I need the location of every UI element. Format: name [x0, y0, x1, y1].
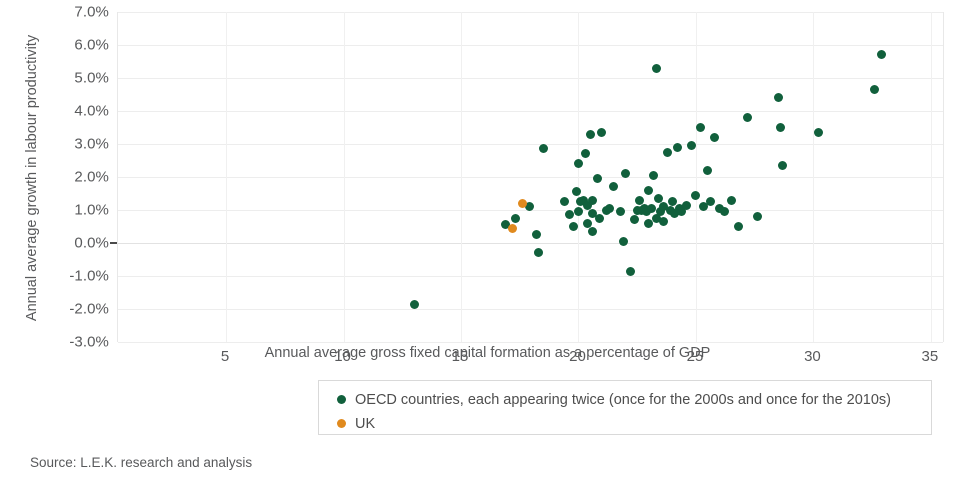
gridline-horizontal — [118, 276, 943, 277]
data-point-oecd — [574, 207, 583, 216]
gridline-horizontal — [118, 243, 943, 244]
data-point-oecd — [877, 50, 886, 59]
data-point-oecd — [753, 212, 762, 221]
data-point-oecd — [565, 210, 574, 219]
data-point-oecd — [776, 123, 785, 132]
scatter-chart: Annual average growth in labour producti… — [0, 0, 975, 485]
y-axis-tick-label: 4.0% — [53, 103, 109, 120]
data-point-oecd — [588, 196, 597, 205]
data-point-oecd — [743, 113, 752, 122]
gridline-horizontal — [118, 111, 943, 112]
data-point-oecd — [644, 186, 653, 195]
data-point-oecd — [581, 149, 590, 158]
data-point-oecd — [720, 207, 729, 216]
y-axis-tick-label: -1.0% — [53, 268, 109, 285]
legend-item-uk[interactable]: UK — [337, 413, 931, 434]
gridline-horizontal — [118, 177, 943, 178]
y-axis-tick-label: 7.0% — [53, 4, 109, 21]
chart-legend: OECD countries, each appearing twice (on… — [318, 380, 932, 435]
y-axis-tick-label: -2.0% — [53, 301, 109, 318]
data-point-oecd — [616, 207, 625, 216]
y-axis-title: Annual average growth in labour producti… — [24, 18, 40, 338]
data-point-oecd — [647, 204, 656, 213]
data-point-oecd — [774, 93, 783, 102]
data-point-oecd — [595, 214, 604, 223]
y-axis-tick-label: 6.0% — [53, 37, 109, 54]
y-axis-tick-label: 3.0% — [53, 136, 109, 153]
zero-axis-tick-mark — [110, 242, 117, 244]
data-point-oecd — [814, 128, 823, 137]
data-point-oecd — [619, 237, 628, 246]
data-point-oecd — [691, 191, 700, 200]
data-point-oecd — [560, 197, 569, 206]
gridline-horizontal — [118, 309, 943, 310]
y-axis-ticks: 7.0%6.0%5.0%4.0%3.0%2.0%1.0%0.0%-1.0%-2.… — [47, 12, 109, 342]
data-point-oecd — [626, 267, 635, 276]
data-point-oecd — [687, 141, 696, 150]
data-point-oecd — [706, 197, 715, 206]
x-axis-title: Annual average gross fixed capital forma… — [0, 345, 975, 361]
gridline-horizontal — [118, 45, 943, 46]
gridline-vertical — [344, 12, 345, 342]
data-point-oecd — [870, 85, 879, 94]
data-point-uk — [518, 199, 527, 208]
data-point-oecd — [663, 148, 672, 157]
data-point-oecd — [586, 130, 595, 139]
y-axis-tick-label: 1.0% — [53, 202, 109, 219]
data-point-oecd — [696, 123, 705, 132]
data-point-oecd — [659, 217, 668, 226]
data-point-oecd — [539, 144, 548, 153]
y-axis-tick-label: 5.0% — [53, 70, 109, 87]
gridline-horizontal — [118, 12, 943, 13]
y-axis-tick-label: 0.0% — [53, 235, 109, 252]
data-point-oecd — [593, 174, 602, 183]
data-point-uk — [508, 224, 517, 233]
gridline-vertical — [461, 12, 462, 342]
gridline-vertical — [931, 12, 932, 342]
data-point-oecd — [673, 143, 682, 152]
gridline-vertical — [813, 12, 814, 342]
data-point-oecd — [652, 64, 661, 73]
legend-label: OECD countries, each appearing twice (on… — [355, 392, 891, 408]
data-point-oecd — [532, 230, 541, 239]
data-point-oecd — [569, 222, 578, 231]
data-point-oecd — [410, 300, 419, 309]
gridline-vertical — [578, 12, 579, 342]
plot-area — [117, 12, 944, 342]
data-point-oecd — [703, 166, 712, 175]
data-point-oecd — [734, 222, 743, 231]
legend-swatch-oecd-icon — [337, 395, 346, 404]
data-point-oecd — [649, 171, 658, 180]
data-point-oecd — [605, 204, 614, 213]
legend-item-oecd[interactable]: OECD countries, each appearing twice (on… — [337, 389, 931, 410]
legend-swatch-uk-icon — [337, 419, 346, 428]
data-point-oecd — [572, 187, 581, 196]
y-axis-tick-label: 2.0% — [53, 169, 109, 186]
gridline-vertical — [226, 12, 227, 342]
gridline-horizontal — [118, 144, 943, 145]
gridline-vertical — [696, 12, 697, 342]
data-point-oecd — [574, 159, 583, 168]
legend-label: UK — [355, 416, 375, 432]
data-point-oecd — [710, 133, 719, 142]
data-point-oecd — [597, 128, 606, 137]
data-point-oecd — [630, 215, 639, 224]
data-point-oecd — [609, 182, 618, 191]
source-note: Source: L.E.K. research and analysis — [30, 455, 252, 470]
data-point-oecd — [682, 201, 691, 210]
data-point-oecd — [534, 248, 543, 257]
data-point-oecd — [778, 161, 787, 170]
data-point-oecd — [588, 227, 597, 236]
data-point-oecd — [727, 196, 736, 205]
data-point-oecd — [511, 214, 520, 223]
gridline-horizontal — [118, 78, 943, 79]
